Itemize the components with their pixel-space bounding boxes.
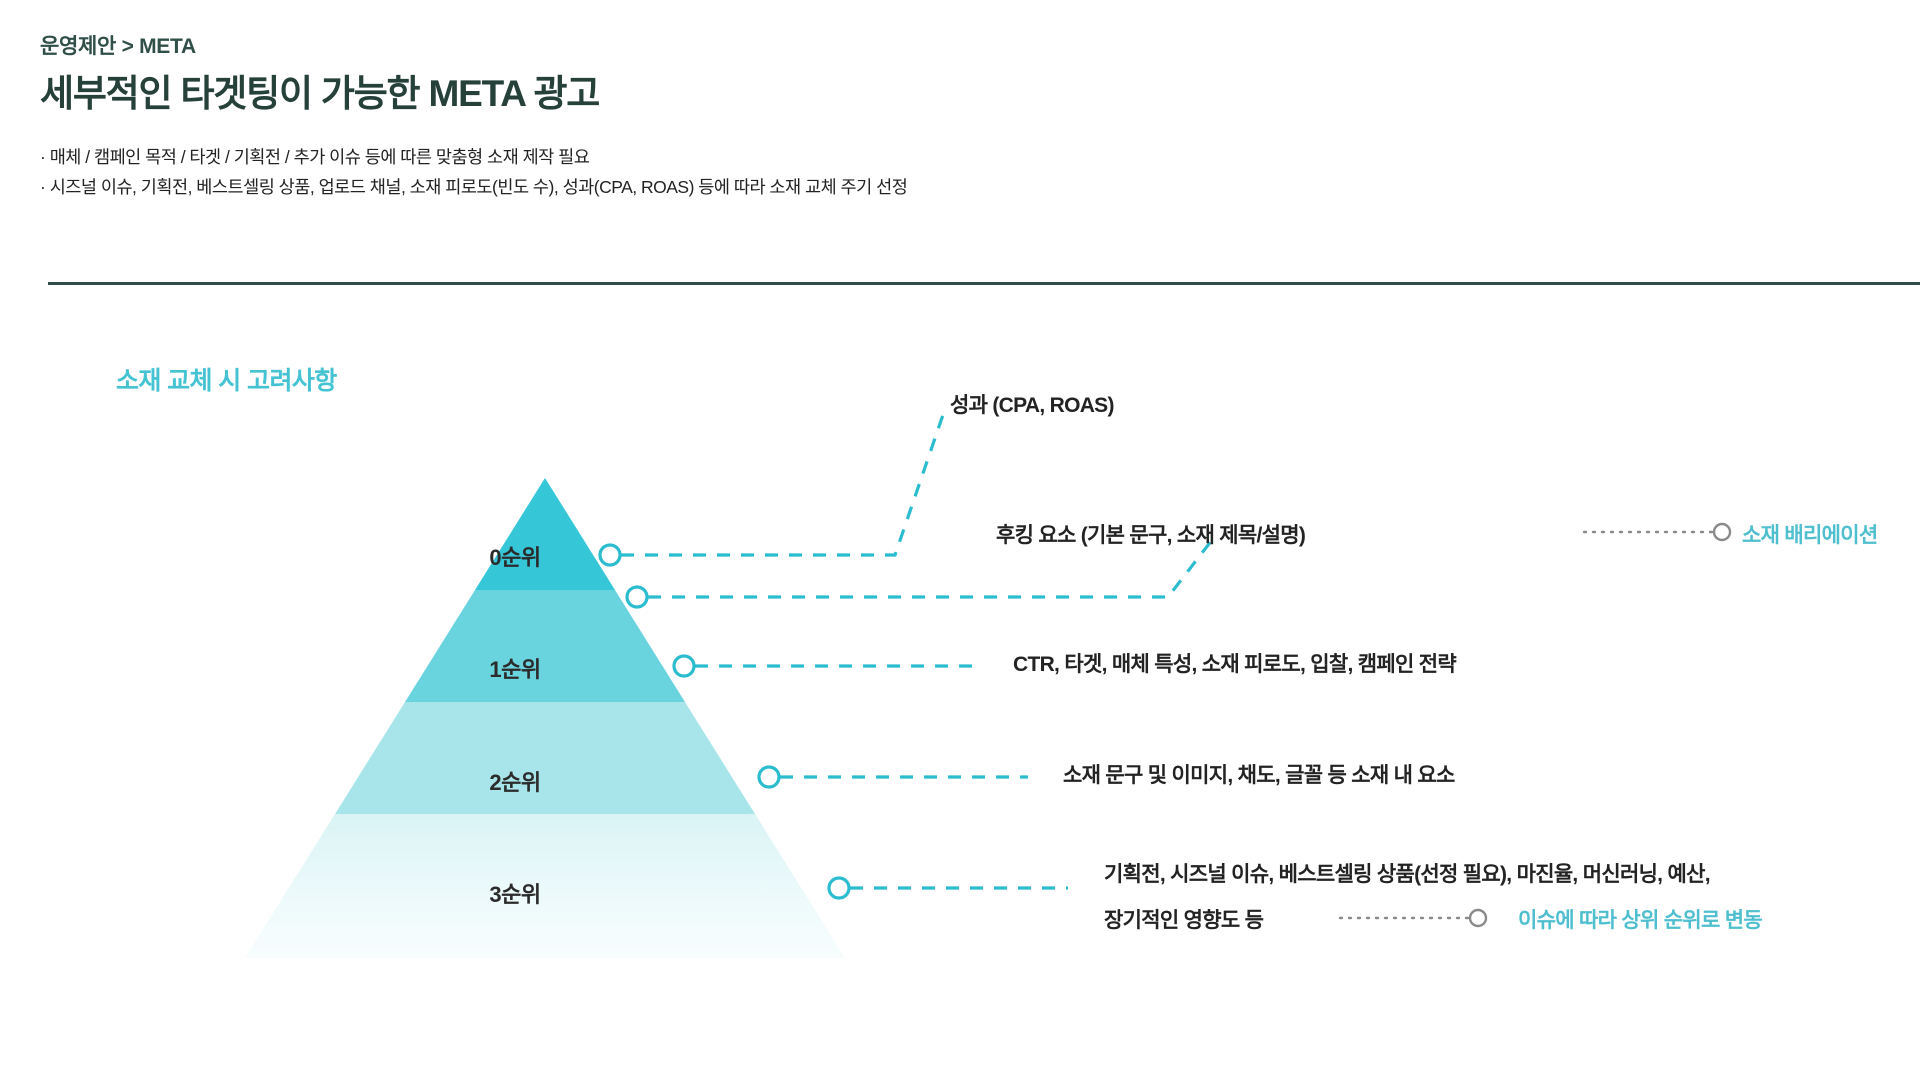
bullet-item-1: · 매체 / 캠페인 목적 / 타겟 / 기획전 / 추가 이슈 등에 따른 맞… — [40, 142, 1880, 173]
callout-hooking: 후킹 요소 (기본 문구, 소재 제목/설명) — [996, 519, 1305, 549]
connector-node-ctr — [674, 656, 694, 676]
leader-node-variation — [1714, 524, 1730, 540]
leader-shift — [1340, 910, 1486, 926]
connector-node-plan — [829, 878, 849, 898]
connector-node-material — [759, 767, 779, 787]
connector-hooking — [627, 540, 1212, 607]
connector-performance — [600, 409, 945, 565]
connector-ctr — [674, 656, 972, 676]
section-heading: 소재 교체 시 고려사항 — [116, 361, 337, 397]
connector-node-performance — [600, 545, 620, 565]
page-title: 세부적인 타겟팅이 가능한 META 광고 — [40, 73, 1880, 116]
connector-node-hooking — [627, 587, 647, 607]
pyramid-tier-label-0: 0순위 — [455, 540, 575, 572]
connector-plan — [829, 878, 1068, 898]
pyramid-tier-label-2: 2순위 — [455, 765, 575, 797]
pyramid-tier-label-1: 1순위 — [455, 652, 575, 684]
pyramid-tier-1 — [200, 590, 900, 702]
callout-plan-line-2: 장기적인 영향도 등 — [1104, 904, 1263, 934]
callout-ctr: CTR, 타겟, 매체 특성, 소재 피로도, 입찰, 캠페인 전략 — [1013, 648, 1456, 678]
bullet-item-2: · 시즈널 이슈, 기획전, 베스트셀링 상품, 업로드 채널, 소재 피로도(… — [40, 172, 1880, 203]
connector-material — [759, 767, 1028, 787]
callout-performance: 성과 (CPA, ROAS) — [950, 389, 1114, 419]
header-divider — [48, 282, 1920, 285]
note-shift: 이슈에 따라 상위 순위로 변동 — [1518, 904, 1762, 934]
callout-material: 소재 문구 및 이미지, 채도, 글꼴 등 소재 내 요소 — [1063, 759, 1455, 789]
pyramid-tier-2 — [200, 702, 900, 814]
leader-node-shift — [1470, 910, 1486, 926]
breadcrumb: 운영제안 > META — [40, 34, 1880, 59]
pyramid-tier-0 — [200, 470, 900, 590]
leader-variation — [1584, 524, 1730, 540]
page-header: 운영제안 > META 세부적인 타겟팅이 가능한 META 광고 · 매체 /… — [40, 34, 1880, 203]
pyramid-tier-label-3: 3순위 — [455, 877, 575, 909]
callout-plan-line-1: 기획전, 시즈널 이슈, 베스트셀링 상품(선정 필요), 마진율, 머신러닝,… — [1104, 858, 1710, 888]
note-variation: 소재 배리에이션 — [1742, 519, 1877, 549]
bullet-list: · 매체 / 캠페인 목적 / 타겟 / 기획전 / 추가 이슈 등에 따른 맞… — [40, 142, 1880, 203]
